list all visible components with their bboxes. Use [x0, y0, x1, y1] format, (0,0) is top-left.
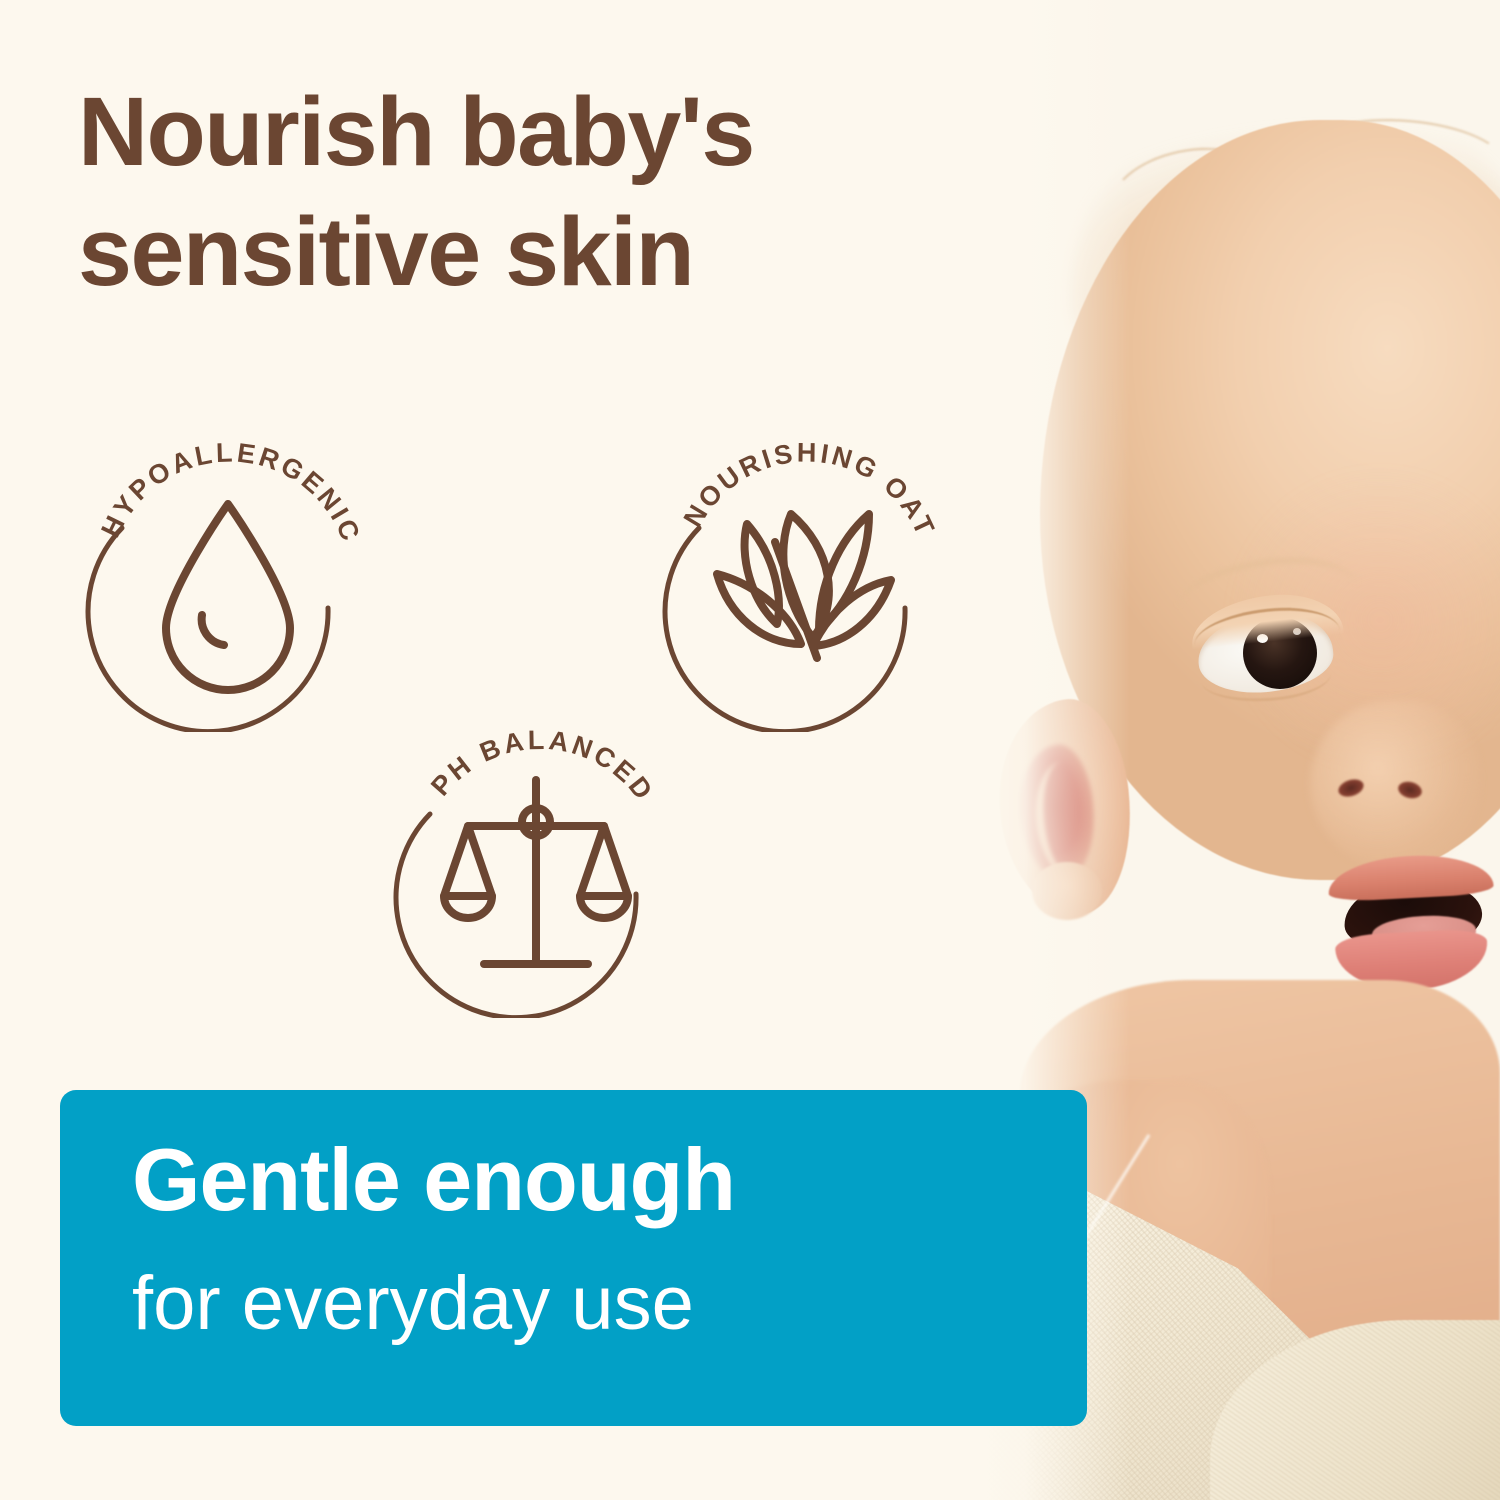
page-title: Nourish baby's sensitive skin: [78, 72, 978, 313]
headline-line-2: sensitive skin: [78, 192, 978, 312]
badge-nourishing-oat: NOURISHING OAT: [655, 432, 955, 732]
badge-label-hypoallergenic: HYPOALLERGENIC: [95, 437, 366, 547]
badge-label-nourishing-oat: NOURISHING OAT: [678, 438, 942, 543]
banner-subheadline: for everyday use: [132, 1266, 694, 1342]
headline-line-1: Nourish baby's: [78, 72, 978, 192]
banner-headline: Gentle enough: [132, 1136, 735, 1224]
water-droplet-icon: [166, 504, 290, 690]
badge-ph-balanced: PH BALANCED: [386, 718, 686, 1018]
marketing-image-canvas: Nourish baby's sensitive skin HYPOALLERG…: [0, 0, 1500, 1500]
badge-label-ph-balanced: PH BALANCED: [425, 725, 660, 808]
balance-scale-icon: [444, 780, 628, 964]
oat-leaf-icon: [717, 514, 891, 658]
gentle-enough-banner: Gentle enough for everyday use: [60, 1090, 1087, 1426]
baby-nose: [1310, 700, 1480, 870]
badge-hypoallergenic: HYPOALLERGENIC: [78, 432, 378, 732]
